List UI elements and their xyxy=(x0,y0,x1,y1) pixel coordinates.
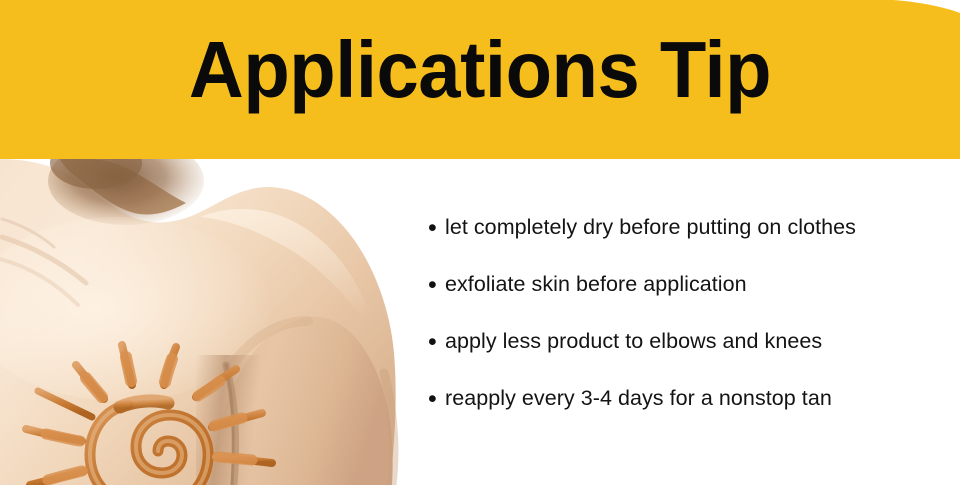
bullet-icon: • xyxy=(428,271,445,299)
list-item: • exfoliate skin before application xyxy=(428,271,948,328)
header-band: Applications Tip xyxy=(0,0,960,159)
list-item: • reapply every 3-4 days for a nonstop t… xyxy=(428,385,948,442)
applications-tip-banner: Applications Tip xyxy=(0,0,960,485)
product-photo xyxy=(0,159,420,485)
tip-text: reapply every 3-4 days for a nonstop tan xyxy=(445,385,832,412)
bullet-icon: • xyxy=(428,328,445,356)
list-item: • let completely dry before putting on c… xyxy=(428,214,948,271)
tips-list: • let completely dry before putting on c… xyxy=(428,214,948,442)
tip-text: exfoliate skin before application xyxy=(445,271,747,298)
photo-illustration xyxy=(0,159,420,485)
tip-text: let completely dry before putting on clo… xyxy=(445,214,856,241)
list-item: • apply less product to elbows and knees xyxy=(428,328,948,385)
bullet-icon: • xyxy=(428,385,445,413)
bullet-icon: • xyxy=(428,214,445,242)
tip-text: apply less product to elbows and knees xyxy=(445,328,822,355)
page-title: Applications Tip xyxy=(24,22,936,118)
